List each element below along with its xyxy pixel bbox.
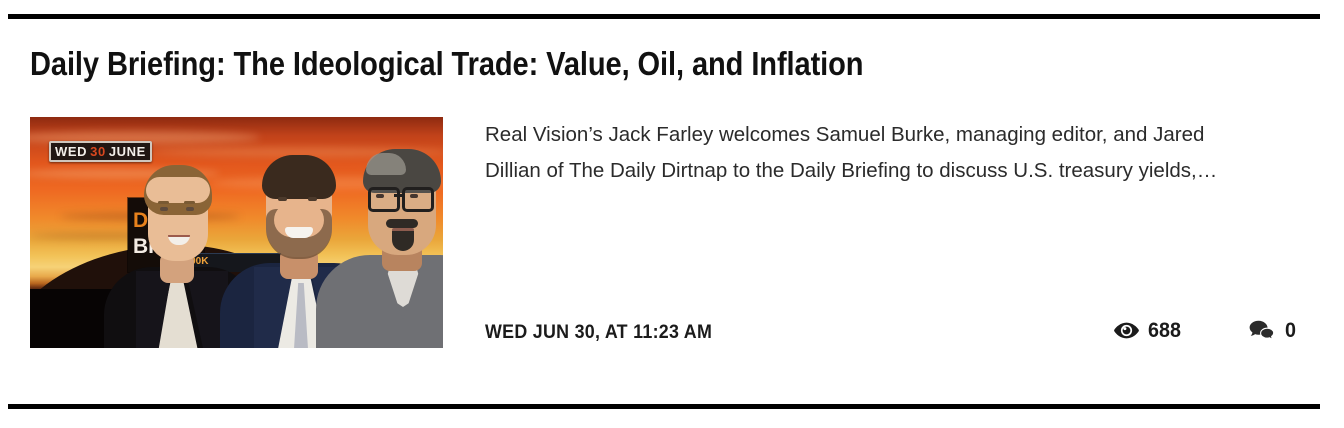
publish-date: WED JUN 30, AT 11:23 AM xyxy=(485,322,712,344)
forehead xyxy=(146,177,210,203)
eyebrow-left xyxy=(276,190,288,193)
article-meta: WED JUN 30, AT 11:23 AM 688 0 xyxy=(485,320,1297,350)
eye-right xyxy=(186,207,194,211)
hair xyxy=(262,155,336,199)
eyeglasses-lens-left xyxy=(368,187,400,212)
article-content: Real Vision’s Jack Farley welcomes Samue… xyxy=(485,117,1285,189)
divider-top xyxy=(8,14,1320,19)
article-excerpt: Real Vision’s Jack Farley welcomes Samue… xyxy=(485,117,1255,189)
eye-left xyxy=(160,207,168,211)
badge-day: 30 xyxy=(90,144,106,159)
article-card[interactable]: Daily Briefing: The Ideological Trade: V… xyxy=(0,0,1344,428)
eyebrow-right xyxy=(184,201,195,204)
smile xyxy=(285,227,313,238)
eye-icon xyxy=(1114,322,1139,339)
eyebrow-right xyxy=(306,190,318,193)
eyeglasses-lens-right xyxy=(402,187,434,212)
view-count-group[interactable]: 688 xyxy=(1114,320,1183,341)
eye-left xyxy=(278,197,287,201)
eyeglasses-bridge xyxy=(394,194,404,197)
comments-icon xyxy=(1249,320,1276,341)
badge-weekday: WED xyxy=(55,144,87,159)
view-count: 688 xyxy=(1148,320,1181,341)
eyebrow-left xyxy=(158,201,169,204)
comment-count: 0 xyxy=(1285,320,1296,341)
host-portrait-right xyxy=(330,139,443,348)
comment-count-group[interactable]: 0 xyxy=(1249,320,1297,341)
divider-bottom xyxy=(8,404,1320,409)
greying-hair-highlight xyxy=(366,153,406,175)
article-thumbnail[interactable]: DA BRI G 500K WED30JUNE xyxy=(30,117,443,348)
page-title[interactable]: Daily Briefing: The Ideological Trade: V… xyxy=(30,44,1130,84)
article-stats: 688 0 xyxy=(1114,320,1297,341)
eye-right xyxy=(308,197,317,201)
moustache xyxy=(386,219,418,228)
